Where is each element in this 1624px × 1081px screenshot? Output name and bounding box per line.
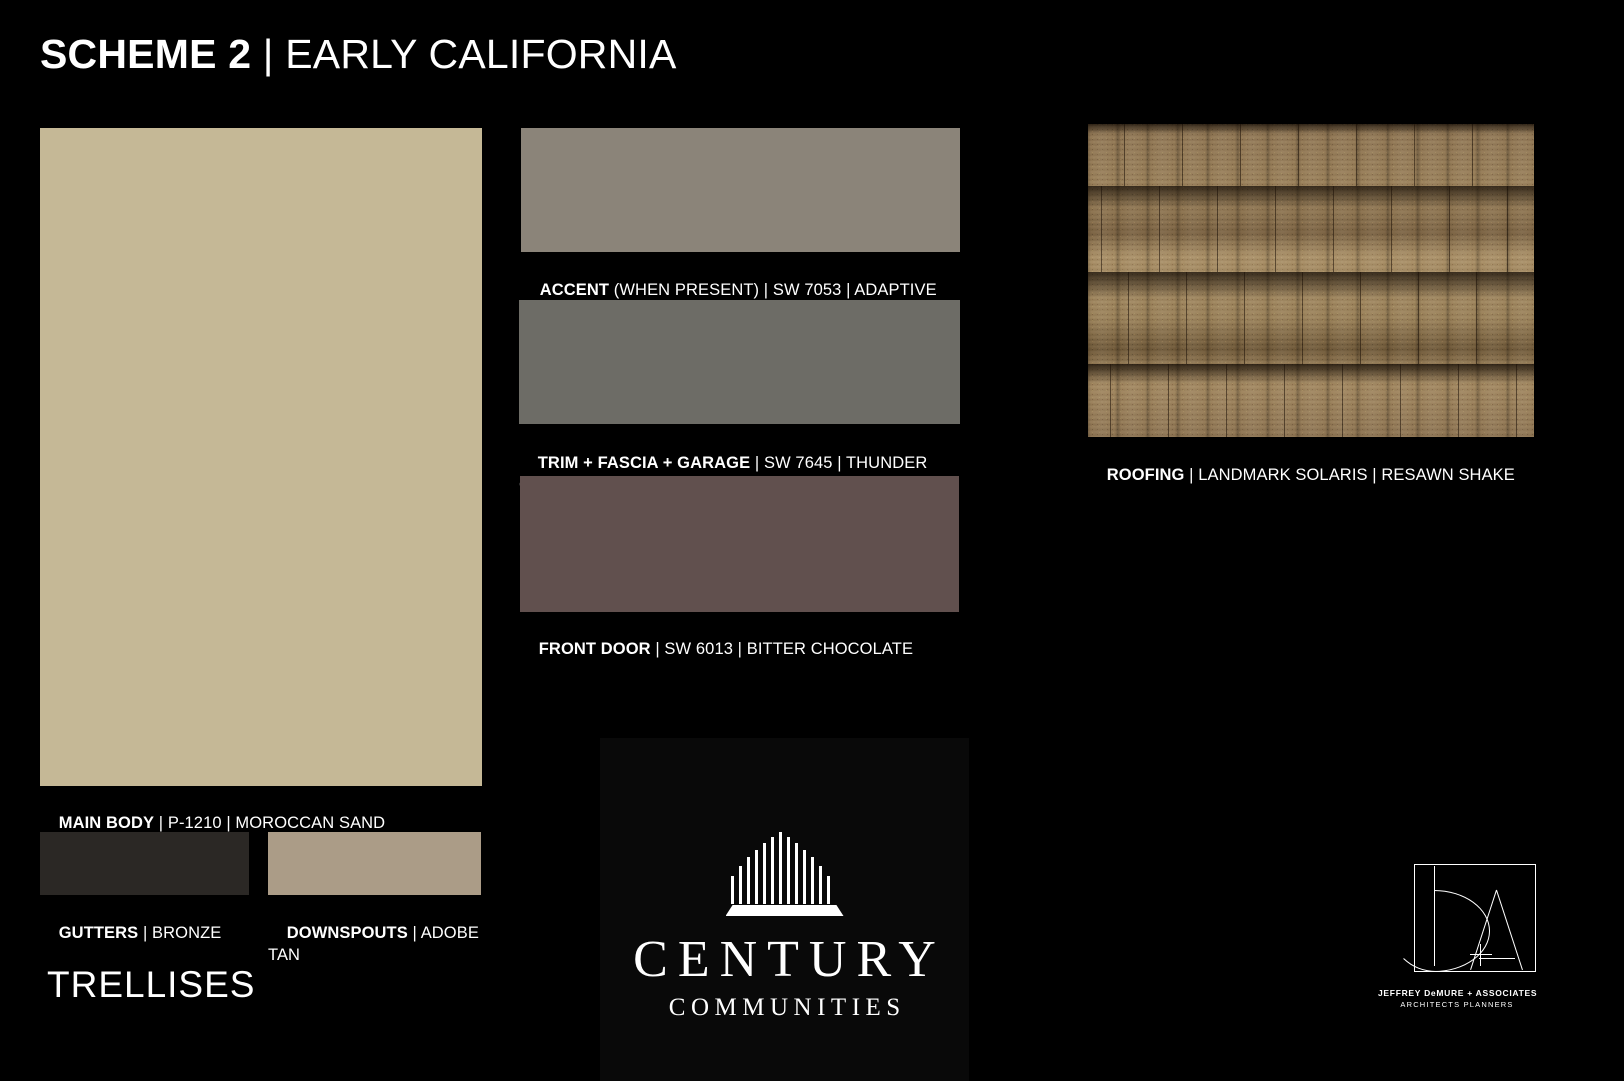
- swatch-label-downspouts: DOWNSPOUTS | ADOBE TAN: [268, 901, 481, 988]
- jda-logo: JEFFREY DeMURE + ASSOCIATES ARCHITECTS P…: [1378, 862, 1536, 1012]
- swatch-group-main-body: MAIN BODY | P-1210 | MOROCCAN SAND: [40, 128, 482, 856]
- downspouts-label-bold: DOWNSPOUTS: [287, 924, 408, 942]
- jda-tagline-discipline: ARCHITECTS PLANNERS: [1378, 1000, 1536, 1009]
- color-swatch-front-door: [520, 476, 959, 612]
- swatch-label-front-door: FRONT DOOR | SW 6013 | BITTER CHOCOLATE: [520, 617, 959, 682]
- page-title-scheme: SCHEME 2: [40, 31, 251, 77]
- page-title-name: | EARLY CALIFORNIA: [251, 31, 676, 77]
- section-heading-trellises: TRELLISES: [47, 964, 255, 1006]
- front-door-label-bold: FRONT DOOR: [539, 640, 651, 658]
- color-swatch-main-body: [40, 128, 482, 786]
- trim-label-bold: TRIM + FASCIA + GARAGE: [538, 454, 750, 472]
- century-wordmark: CENTURY: [623, 934, 946, 986]
- color-swatch-gutters: [40, 832, 249, 895]
- page-title: SCHEME 2 | EARLY CALIFORNIA: [40, 32, 677, 77]
- shingle-granule-texture: [1088, 124, 1534, 437]
- color-swatch-downspouts: [268, 832, 481, 895]
- main-body-label-bold: MAIN BODY: [59, 814, 154, 832]
- swatch-group-gutters: GUTTERS | BRONZE: [40, 832, 249, 966]
- color-swatch-trim-fascia-garage: [519, 300, 960, 424]
- swatch-group-roofing: ROOFING | LANDMARK SOLARIS | RESAWN SHAK…: [1088, 124, 1534, 508]
- roofing-label-detail: | LANDMARK SOLARIS | RESAWN SHAKE: [1184, 466, 1514, 484]
- gutters-label-bold: GUTTERS: [59, 924, 139, 942]
- swatch-group-front-door: FRONT DOOR | SW 6013 | BITTER CHOCOLATE: [520, 476, 959, 682]
- roofing-label-bold: ROOFING: [1107, 466, 1185, 484]
- swatch-group-downspouts: DOWNSPOUTS | ADOBE TAN: [268, 832, 481, 988]
- century-subwordmark: COMMUNITIES: [663, 995, 905, 1020]
- accent-label-bold: ACCENT: [540, 281, 609, 299]
- jda-tagline-firm: JEFFREY DeMURE + ASSOCIATES: [1378, 988, 1536, 998]
- color-swatch-accent: [521, 128, 960, 252]
- material-swatch-roofing-shingle: [1088, 124, 1534, 437]
- front-door-label-detail: | SW 6013 | BITTER CHOCOLATE: [651, 640, 913, 658]
- swatch-label-roofing: ROOFING | LANDMARK SOLARIS | RESAWN SHAK…: [1088, 443, 1534, 508]
- main-body-label-detail: | P-1210 | MOROCCAN SAND: [154, 814, 385, 832]
- century-communities-logo: CENTURY COMMUNITIES: [600, 738, 969, 1081]
- century-sunburst-icon: [726, 828, 844, 920]
- gutters-label-detail: | BRONZE: [138, 924, 221, 942]
- jda-monogram-icon: [1378, 862, 1536, 980]
- swatch-label-gutters: GUTTERS | BRONZE: [40, 901, 249, 966]
